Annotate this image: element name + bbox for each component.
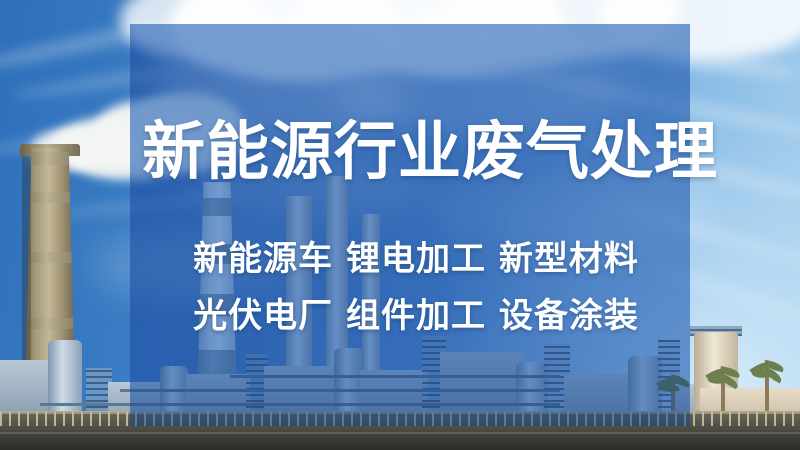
banner-text-block: 新能源行业废气处理 新能源车 锂电加工 新型材料 光伏电厂 组件加工 设备涂装: [130, 24, 690, 426]
palm-tree-icon: [716, 370, 732, 416]
banner-subtitle-line-1: 新能源车 锂电加工 新型材料: [142, 242, 690, 276]
road-line: [0, 432, 800, 434]
banner-headline: 新能源行业废气处理: [142, 120, 690, 183]
banner-subtitle-line-2: 光伏电厂 组件加工 设备涂装: [142, 299, 690, 333]
promo-banner: 新能源行业废气处理 新能源车 锂电加工 新型材料 光伏电厂 组件加工 设备涂装: [0, 0, 800, 450]
palm-tree-icon: [760, 364, 776, 416]
